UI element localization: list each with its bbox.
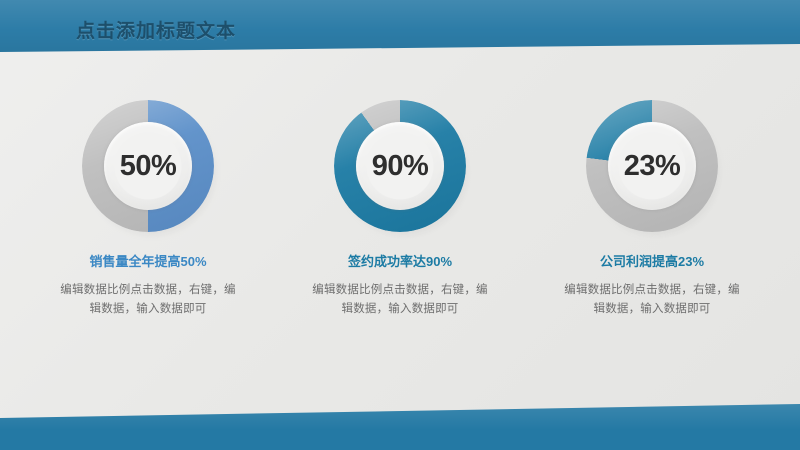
stat-heading-1: 销售量全年提高50% (89, 254, 206, 271)
donut-columns: 50% 销售量全年提高50% 编辑数据比例点击数据，右键，编辑数据，输入数据即可… (0, 100, 800, 319)
slide-canvas: 点击添加标题文本 50% 销售量全年提高50% 编辑数据比例点击数据，右键，编辑… (0, 0, 800, 450)
donut-chart-1[interactable]: 50% (82, 100, 214, 232)
stat-body-3: 编辑数据比例点击数据，右键，编辑数据，输入数据即可 (564, 281, 740, 319)
donut-value-label: 50% (82, 100, 214, 232)
page-title: 点击添加标题文本 (76, 16, 236, 43)
stat-body-1: 编辑数据比例点击数据，右键，编辑数据，输入数据即可 (60, 281, 236, 319)
donut-value-label: 23% (586, 100, 718, 232)
stat-heading-3: 公司利润提高23% (600, 254, 704, 271)
stat-heading-2: 签约成功率达90% (348, 254, 452, 271)
donut-value-label: 90% (334, 100, 466, 232)
stat-column-2: 90% 签约成功率达90% 编辑数据比例点击数据，右键，编辑数据，输入数据即可 (305, 100, 495, 319)
stat-column-1: 50% 销售量全年提高50% 编辑数据比例点击数据，右键，编辑数据，输入数据即可 (53, 100, 243, 319)
donut-chart-2[interactable]: 90% (334, 100, 466, 232)
stat-column-3: 23% 公司利润提高23% 编辑数据比例点击数据，右键，编辑数据，输入数据即可 (557, 100, 747, 319)
bottom-banner (0, 400, 800, 450)
donut-chart-3[interactable]: 23% (586, 100, 718, 232)
stat-body-2: 编辑数据比例点击数据，右键，编辑数据，输入数据即可 (312, 281, 488, 319)
